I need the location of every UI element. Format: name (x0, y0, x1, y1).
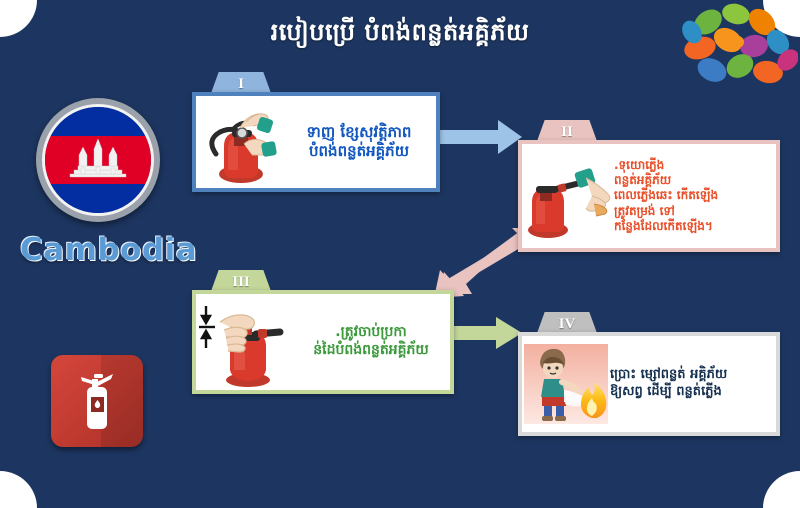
cambodia-flag-badge (36, 98, 160, 222)
step-text-3: .ត្រូវចាប់ប្រកា ន់ដៃបំពង់ពន្លត់អគ្គិភ័យ (292, 324, 450, 360)
step-image-1 (196, 98, 282, 186)
step-image-3 (196, 296, 292, 388)
fire-extinguisher-icon[interactable] (51, 355, 143, 447)
step-text-4: ប្រោះ ម្សៅពន្លត់ អគ្គិភ័យ ឱ្យសព្វ ដើម្បី… (610, 367, 776, 400)
infographic-canvas: របៀបប្រើ បំពង់ពន្លត់អគ្គិភ័យ (0, 0, 800, 508)
step-text-2: .ទុយោភ្លើង ពន្លត់អគ្គិភ័យ ពេលភ្លើងឆេះ កើ… (614, 158, 776, 235)
squeeze-arrows (199, 306, 215, 348)
step-image-2 (522, 150, 614, 242)
corner-cutout-bottom-left (0, 471, 37, 508)
corner-cutout-bottom-right (763, 471, 800, 508)
step-body-3: .ត្រូវចាប់ប្រកា ន់ដៃបំពង់ពន្លត់អគ្គិភ័យ (192, 290, 454, 394)
step-body-4: ប្រោះ ម្សៅពន្លត់ អគ្គិភ័យ ឱ្យសព្វ ដើម្បី… (518, 332, 780, 436)
flag-stripe-blue-top (45, 107, 151, 136)
step-image-4 (522, 342, 610, 426)
petal-flower-logo (678, 2, 798, 84)
angkor-wat-emblem (66, 137, 130, 183)
step-text-1: ទាញ ខ្សែសុវត្តិភាព បំពង់ពន្លត់អគ្គិភ័យ (282, 123, 436, 161)
step-body-1: ទាញ ខ្សែសុវត្តិភាព បំពង់ពន្លត់អគ្គិភ័យ (192, 92, 440, 192)
country-label: Cambodia (20, 232, 180, 268)
flag-stripe-blue-bottom (45, 184, 151, 213)
arrow-step1-to-step2 (440, 118, 524, 156)
step-body-2: .ទុយោភ្លើង ពន្លត់អគ្គិភ័យ ពេលភ្លើងឆេះ កើ… (518, 140, 780, 252)
cambodia-flag (42, 104, 154, 216)
